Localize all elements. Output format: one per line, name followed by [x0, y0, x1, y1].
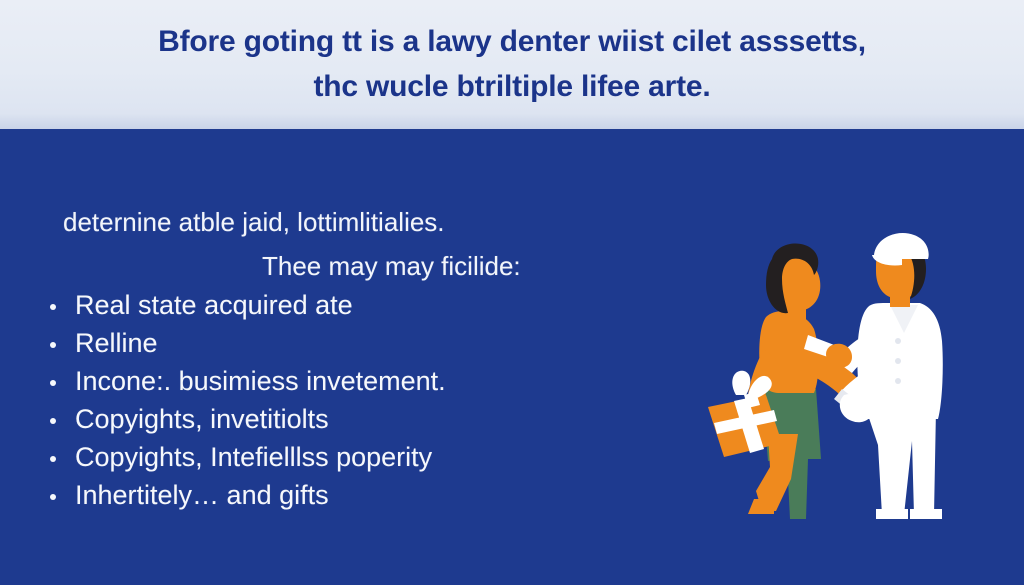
bullet-label: Copyights, invetitiolts	[75, 406, 329, 433]
man-jacket-button	[895, 358, 901, 364]
bullet-dot-icon	[50, 304, 56, 310]
man-shoe-right	[910, 509, 942, 519]
slide-canvas: Bfore goting tt is a lawy denter wiist c…	[0, 0, 1024, 585]
list-item: Relline	[48, 330, 446, 368]
list-item: Inhertitely… and gifts	[48, 482, 446, 520]
body-panel: deternine atble jaid, lottimlitialies. T…	[0, 129, 1024, 585]
bullet-dot-icon	[50, 456, 56, 462]
bullet-dot-icon	[50, 342, 56, 348]
body-text-block: deternine atble jaid, lottimlitialies. T…	[0, 129, 680, 585]
bullet-label: Real state acquired ate	[75, 292, 353, 319]
bullet-label: Incone:. busimiess invetement.	[75, 368, 446, 395]
header-banner: Bfore goting tt is a lawy denter wiist c…	[0, 0, 1024, 129]
header-title-line-2: thc wucle btriltiple lifee arte.	[313, 66, 710, 109]
list-item: Copyights, invetitiolts	[48, 406, 446, 444]
bullet-label: Inhertitely… and gifts	[75, 482, 329, 509]
handshake-gift-illustration-svg	[690, 229, 980, 529]
list-item: Copyights, Intefielllss poperity	[48, 444, 446, 482]
bullet-dot-icon	[50, 380, 56, 386]
body-paragraph-1: deternine atble jaid, lottimlitialies.	[63, 207, 445, 238]
man-jacket-button	[895, 378, 901, 384]
man-jacket-button	[895, 338, 901, 344]
body-paragraph-2: Thee may may ficilide:	[262, 251, 521, 282]
list-item: Real state acquired ate	[48, 292, 446, 330]
bullet-label: Copyights, Intefielllss poperity	[75, 444, 432, 471]
bullet-dot-icon	[50, 494, 56, 500]
handshake-gift-illustration	[690, 229, 980, 529]
bullet-dot-icon	[50, 418, 56, 424]
bullet-list: Real state acquired ate Relline Incone:.…	[48, 292, 446, 520]
bullet-label: Relline	[75, 330, 158, 357]
header-title-line-1: Bfore goting tt is a lawy denter wiist c…	[158, 21, 866, 64]
gift-bow-left-loop	[732, 371, 750, 395]
woman-shoe	[748, 499, 774, 514]
list-item: Incone:. busimiess invetement.	[48, 368, 446, 406]
gift-box	[708, 371, 782, 457]
man-trousers	[866, 409, 936, 515]
man-shoe-left	[876, 509, 908, 519]
